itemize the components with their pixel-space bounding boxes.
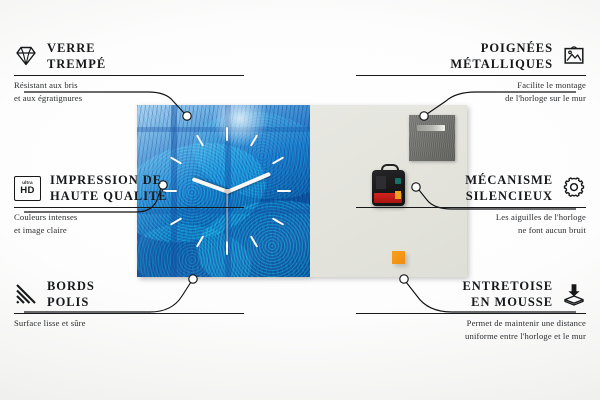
feature-subtitle-line2: uniforme entre l'horloge et le mur [465, 331, 586, 341]
feature-subtitle-line2: et aux égratignures [14, 93, 82, 103]
feature-subtitle: Couleurs intenses et image claire [14, 211, 244, 235]
feature-subtitle-line1: Couleurs intenses [14, 212, 77, 222]
feature-subtitle: Surface lisse et sûre [14, 317, 244, 329]
gear-icon [562, 176, 586, 200]
feature-subtitle-line1: Les aiguilles de l'horloge [496, 212, 586, 222]
hanger-slot [417, 125, 445, 131]
feature-subtitle-line2: et image claire [14, 225, 67, 235]
feature-title-line1: BORDS [47, 279, 95, 293]
feature-title-line2: EN MOUSSE [471, 295, 553, 309]
feature-header: POIGNÉES MÉTALLIQUES [356, 40, 586, 72]
feature-subtitle: Facilite le montage de l'horloge sur le … [356, 79, 586, 103]
diamond-icon [14, 44, 38, 68]
feature-title-line1: IMPRESSION DE [50, 173, 162, 187]
feature-subtitle-line2: de l'horloge sur le mur [505, 93, 586, 103]
feature-subtitle-line1: Résistant aux bris [14, 80, 78, 90]
feature-title-line1: ENTRETOISE [462, 279, 553, 293]
divider [356, 313, 586, 314]
feature-header: ENTRETOISE EN MOUSSE [356, 278, 586, 310]
feature-title: ENTRETOISE EN MOUSSE [462, 278, 553, 310]
arrow-press-pad-icon [562, 282, 586, 306]
feature-subtitle-line2: ne font aucun bruit [518, 225, 586, 235]
hour-tick-3 [277, 190, 291, 192]
infographic-canvas: VERRE TREMPÉ Résistant aux bris et aux é… [0, 0, 600, 400]
feature-title-line2: SILENCIEUX [466, 189, 553, 203]
feature-subtitle-line1: Permet de maintenir une distance [467, 318, 586, 328]
feature-title-line1: MÉCANISME [465, 173, 553, 187]
orange-foam-spacer [392, 251, 405, 264]
feature-title: MÉCANISME SILENCIEUX [465, 172, 553, 204]
feature-mecanisme-silencieux: MÉCANISME SILENCIEUX Les aiguilles de l'… [356, 172, 586, 236]
divider [14, 75, 244, 76]
feature-verre-trempe: VERRE TREMPÉ Résistant aux bris et aux é… [14, 40, 244, 104]
diagonal-lines-icon [14, 282, 38, 306]
feature-entretoise-en-mousse: ENTRETOISE EN MOUSSE Permet de maintenir… [356, 278, 586, 342]
feature-title: VERRE TREMPÉ [47, 40, 106, 72]
divider [14, 207, 244, 208]
feature-title-line2: HAUTE QUALITÉ [50, 189, 168, 203]
feature-header: MÉCANISME SILENCIEUX [356, 172, 586, 204]
feature-title-line2: MÉTALLIQUES [450, 57, 553, 71]
feature-title: BORDS POLIS [47, 278, 95, 310]
feature-impression-hd: ultra HD IMPRESSION DE HAUTE QUALITÉ Cou… [14, 172, 244, 236]
feature-bords-polis: BORDS POLIS Surface lisse et sûre [14, 278, 244, 330]
divider [356, 207, 586, 208]
feature-subtitle-line1: Facilite le montage [517, 80, 586, 90]
hour-tick-12 [226, 127, 228, 141]
feature-poignees-metalliques: POIGNÉES MÉTALLIQUES Facilite le montage… [356, 40, 586, 104]
metal-hanger-plate [409, 115, 455, 161]
feature-title-line1: VERRE [47, 41, 96, 55]
feature-header: BORDS POLIS [14, 278, 244, 310]
feature-title-line1: POIGNÉES [481, 41, 553, 55]
ultra-hd-icon: ultra HD [14, 176, 41, 201]
feature-subtitle-line1: Surface lisse et sûre [14, 318, 86, 328]
divider [356, 75, 586, 76]
feature-header: VERRE TREMPÉ [14, 40, 244, 72]
hour-tick-6 [226, 241, 228, 255]
feature-title-line2: TREMPÉ [47, 57, 106, 71]
feature-title-line2: POLIS [47, 295, 89, 309]
ultra-hd-icon-large-text: HD [20, 186, 34, 196]
picture-frame-hanger-icon [562, 44, 586, 68]
feature-title: IMPRESSION DE HAUTE QUALITÉ [50, 172, 168, 204]
feature-subtitle: Les aiguilles de l'horloge ne font aucun… [356, 211, 586, 235]
feature-title: POIGNÉES MÉTALLIQUES [450, 40, 553, 72]
divider [14, 313, 244, 314]
feature-header: ultra HD IMPRESSION DE HAUTE QUALITÉ [14, 172, 244, 204]
feature-subtitle: Résistant aux bris et aux égratignures [14, 79, 244, 103]
feature-subtitle: Permet de maintenir une distance uniform… [356, 317, 586, 341]
